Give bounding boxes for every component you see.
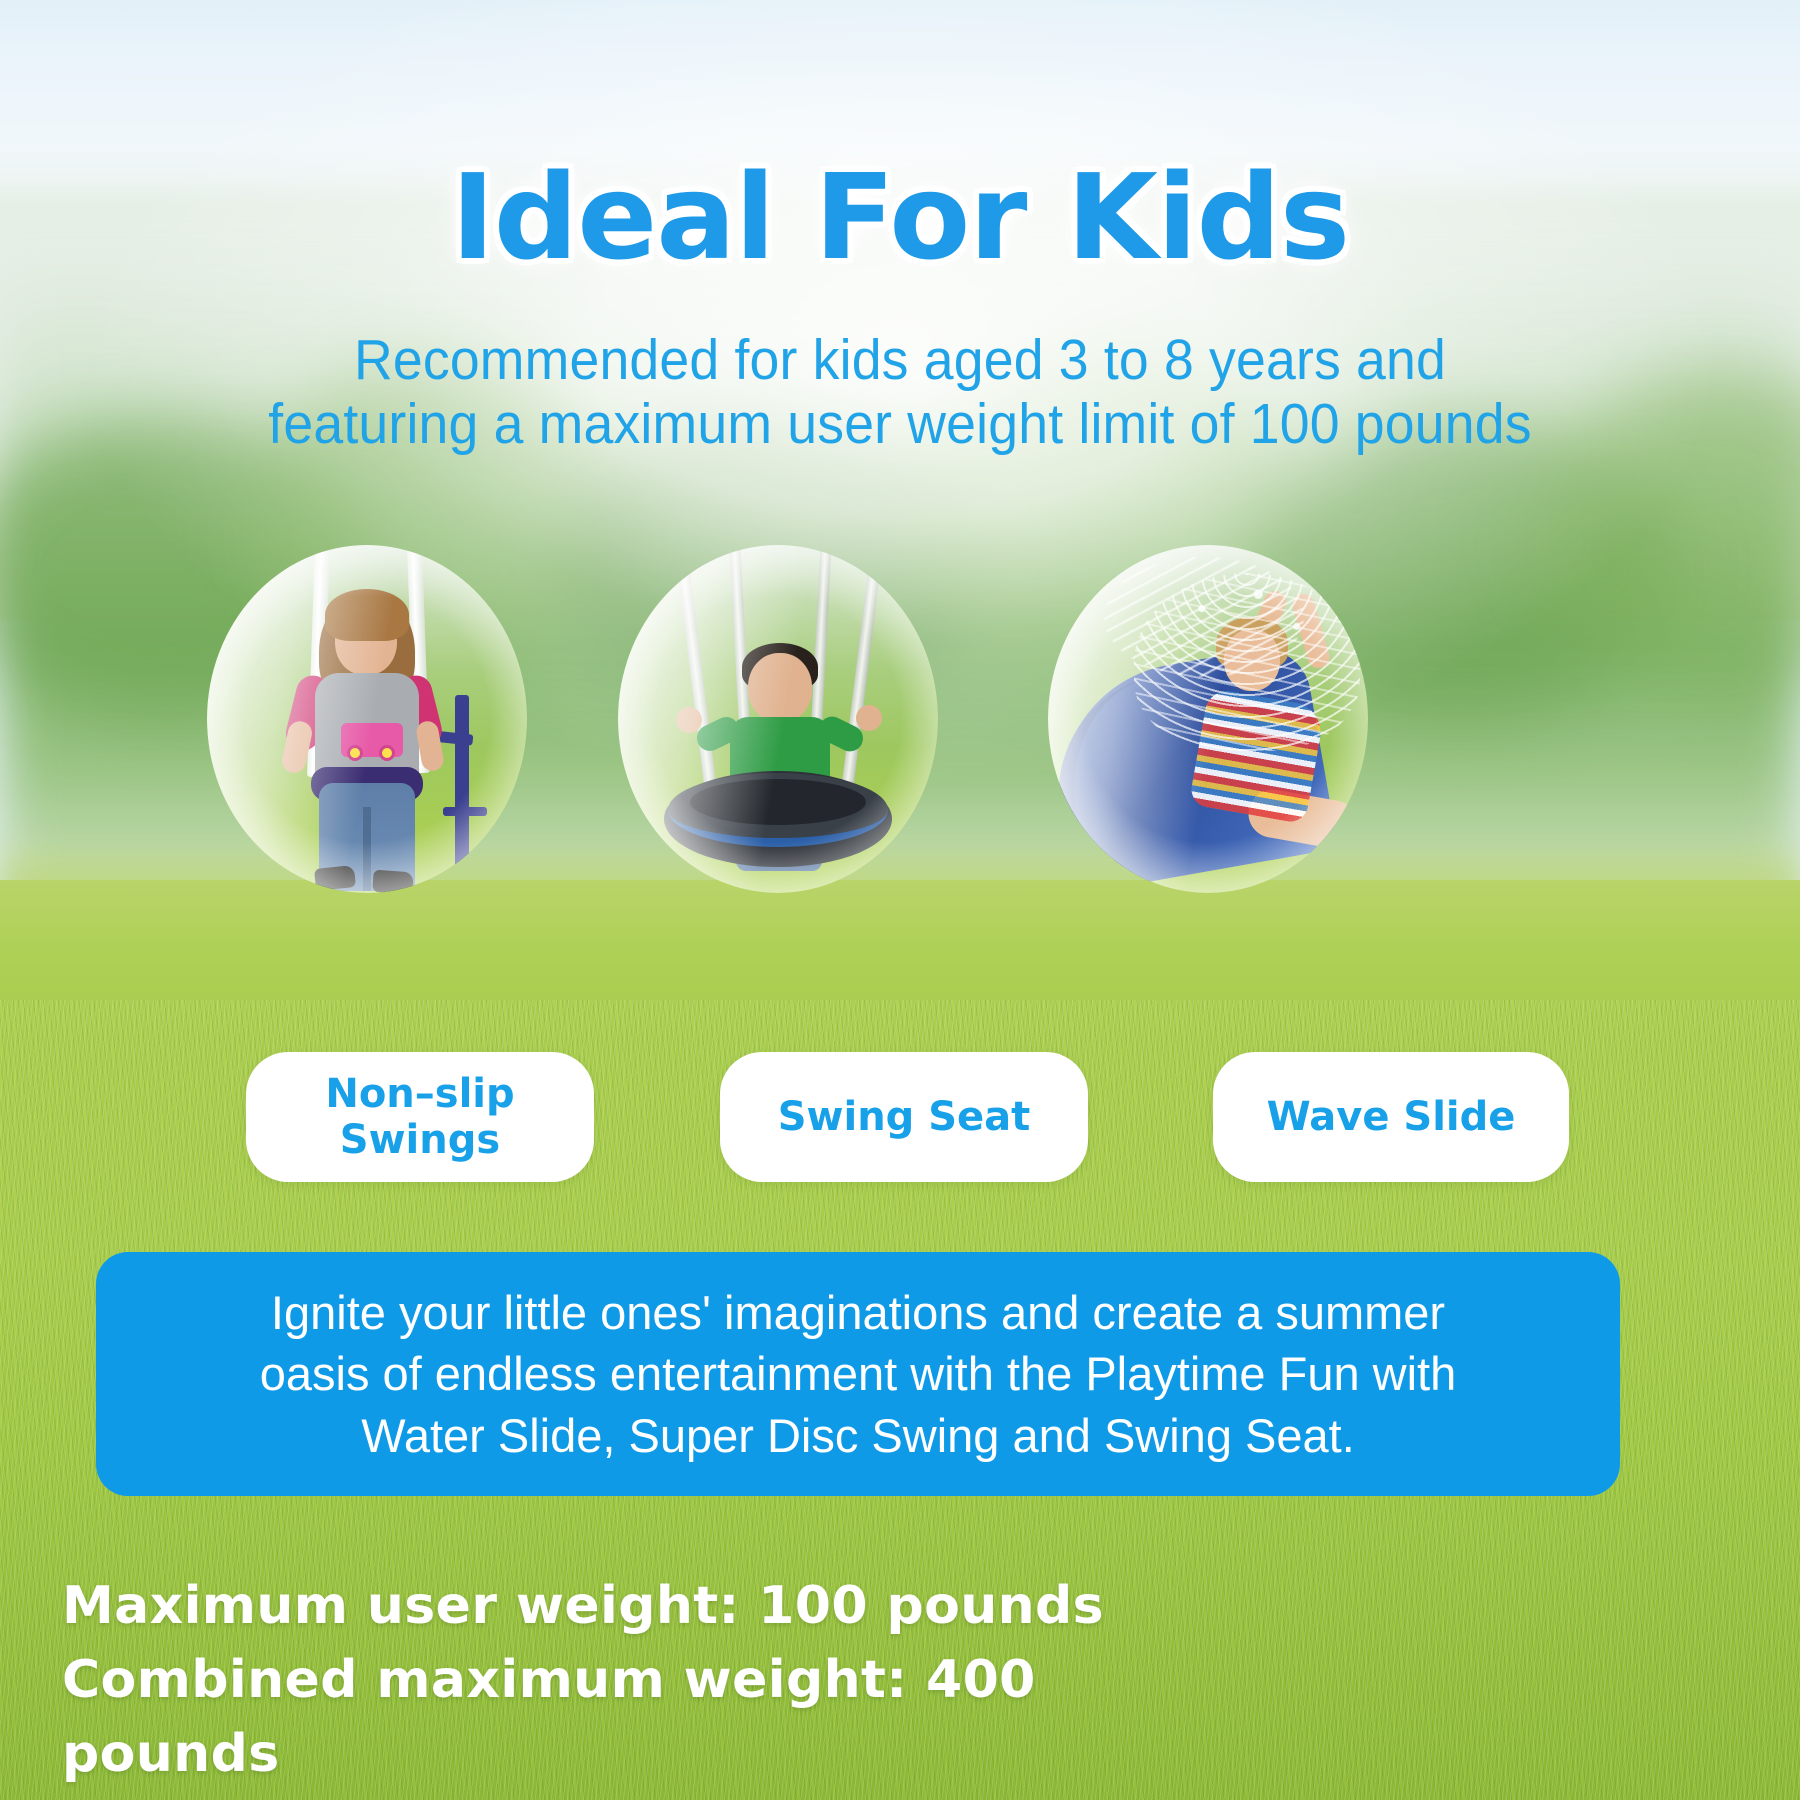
max-user-weight: Maximum user weight: 100 pounds [62,1570,1262,1644]
feature-photo-row [0,545,1800,895]
feature-photo-swing-seat [618,545,938,893]
description-box: Ignite your little ones' imaginations an… [96,1252,1620,1496]
feature-photo-non-slip-swings [207,545,527,893]
feature-label-swing-seat[interactable]: Swing Seat [720,1052,1088,1182]
poster-canvas: Ideal For Kids Recommended for kids aged… [0,0,1800,1800]
page-title: Ideal For Kids [0,148,1800,286]
headline-container: Ideal For Kids [0,148,1800,286]
description-line-3: Water Slide, Super Disc Swing and Swing … [260,1405,1456,1466]
subtitle-line-2: featuring a maximum user weight limit of… [54,392,1746,456]
description-text: Ignite your little ones' imaginations an… [220,1282,1496,1465]
subtitle-line-1: Recommended for kids aged 3 to 8 years a… [54,328,1746,392]
feature-label-line-1: Wave Slide [1267,1094,1516,1140]
combined-max-weight: Combined maximum weight: 400 pounds [62,1644,1262,1792]
description-line-2: oasis of endless entertainment with the … [260,1343,1456,1404]
feature-photo-wave-slide [1048,545,1368,893]
feature-label-non-slip-swings[interactable]: Non–slip Swings [246,1052,594,1182]
feature-label-line-2: Swings [325,1117,514,1163]
subtitle: Recommended for kids aged 3 to 8 years a… [54,328,1746,457]
description-line-1: Ignite your little ones' imaginations an… [260,1282,1456,1343]
feature-label-line-1: Swing Seat [778,1094,1031,1140]
weight-specs: Maximum user weight: 100 pounds Combined… [62,1570,1262,1791]
feature-label-wave-slide[interactable]: Wave Slide [1213,1052,1569,1182]
feature-label-line-1: Non–slip [325,1071,514,1117]
